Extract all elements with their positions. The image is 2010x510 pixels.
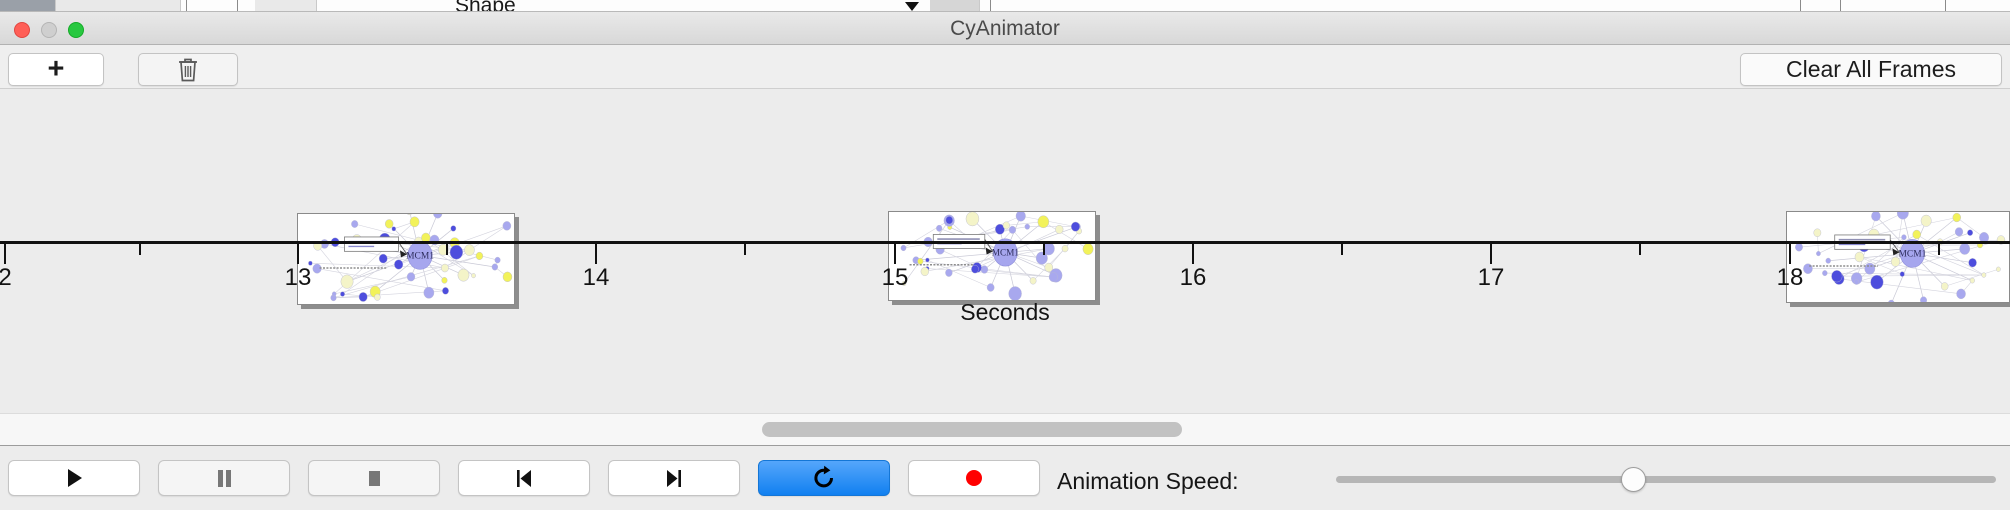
bg-divider — [990, 0, 991, 12]
bg-divider — [186, 0, 187, 12]
frame-thumbnail: MCM1 — [297, 213, 515, 305]
stop-icon — [361, 465, 387, 491]
bg-divider — [237, 0, 238, 12]
skip-start-icon — [511, 465, 537, 491]
axis-tick — [1043, 244, 1045, 255]
animation-speed-label: Animation Speed: — [1057, 468, 1239, 495]
axis-tick-label: 17 — [1478, 264, 1505, 292]
background-window-strip: Shape — [0, 0, 2010, 12]
axis-tick — [297, 244, 299, 264]
axis-tick — [744, 244, 746, 255]
frames-toolbar: + Clear All Frames — [0, 45, 2010, 89]
axis-tick — [1938, 244, 1940, 255]
axis-tick-label: 13 — [285, 264, 312, 292]
axis-tick — [894, 244, 896, 264]
bg-divider — [1945, 0, 1946, 12]
axis-title: Seconds — [0, 299, 2010, 326]
pause-icon — [211, 465, 237, 491]
svg-text:MCM1: MCM1 — [992, 247, 1020, 257]
trash-icon — [177, 57, 199, 83]
axis-tick — [1341, 244, 1343, 255]
play-icon — [61, 465, 87, 491]
axis-tick — [1639, 244, 1641, 255]
bg-chip — [930, 0, 980, 12]
title-bar: CyAnimator — [0, 12, 2010, 45]
axis-tick — [1789, 244, 1791, 264]
axis-tick — [139, 244, 141, 255]
loop-button[interactable] — [758, 460, 890, 496]
bg-divider — [1840, 0, 1841, 12]
timeline-axis — [0, 241, 2010, 244]
axis-tick — [1192, 244, 1194, 264]
svg-text:MCM1: MCM1 — [1899, 249, 1927, 259]
record-icon — [961, 465, 987, 491]
axis-tick — [446, 244, 448, 255]
axis-tick — [595, 244, 597, 264]
svg-text:MCM1: MCM1 — [406, 251, 434, 261]
window-title: CyAnimator — [0, 12, 2010, 45]
skip-to-start-button[interactable] — [458, 460, 590, 496]
scrollbar-thumb[interactable] — [762, 422, 1182, 437]
skip-end-icon — [661, 465, 687, 491]
axis-tick-label: 18 — [1777, 264, 1804, 292]
axis-tick-label: 15 — [882, 264, 909, 292]
timeline-scrollbar[interactable] — [0, 413, 2010, 446]
clear-all-frames-button[interactable]: Clear All Frames — [1740, 53, 2002, 86]
frame-1[interactable]: MCM1 — [297, 213, 515, 305]
axis-tick-label: 2 — [0, 264, 12, 292]
axis-tick — [4, 244, 6, 264]
frame-thumbnail: MCM1 — [888, 211, 1096, 301]
frame-thumbnail: MCM1 — [1786, 211, 2010, 303]
bg-caret-icon — [905, 2, 919, 11]
play-button[interactable] — [8, 460, 140, 496]
animation-speed-slider[interactable] — [1336, 476, 1996, 483]
axis-tick-label: 14 — [583, 264, 610, 292]
plus-icon: + — [48, 55, 65, 84]
skip-to-end-button[interactable] — [608, 460, 740, 496]
pause-button[interactable] — [158, 460, 290, 496]
clear-all-frames-label: Clear All Frames — [1786, 56, 1956, 83]
record-button[interactable] — [908, 460, 1040, 496]
bg-divider — [1800, 0, 1801, 12]
loop-icon — [810, 464, 838, 492]
stop-button[interactable] — [308, 460, 440, 496]
animation-speed-slider-thumb[interactable] — [1621, 467, 1646, 492]
delete-frame-button[interactable] — [138, 53, 238, 86]
axis-tick — [1490, 244, 1492, 264]
frame-3[interactable]: MCM1 — [1786, 211, 2010, 303]
frame-2[interactable]: MCM1 — [888, 211, 1096, 301]
axis-tick-label: 16 — [1180, 264, 1207, 292]
bg-chip — [56, 0, 181, 12]
cyanimator-window: Shape CyAnimator + Clear All Frames — [0, 0, 2010, 510]
timeline-panel[interactable]: MCM1MCM1MCM1 2131415161718 Seconds — [0, 89, 2010, 413]
background-window-label: Shape — [455, 0, 516, 12]
bg-chip — [255, 0, 317, 12]
add-frame-button[interactable]: + — [8, 53, 104, 86]
playback-toolbar: Animation Speed: — [0, 446, 2010, 510]
bg-chip — [0, 0, 56, 12]
